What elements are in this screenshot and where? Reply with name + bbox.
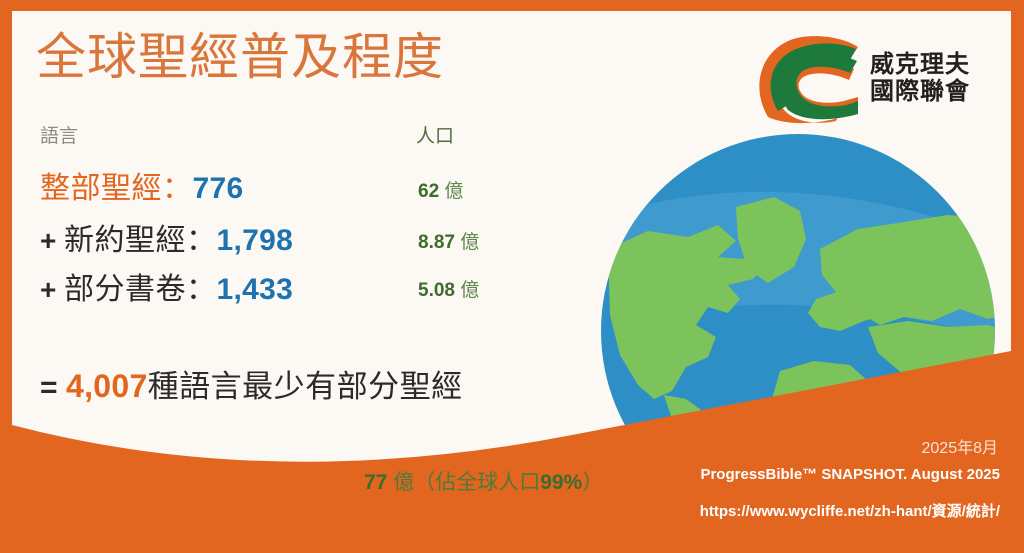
row-population: 8.87 億	[418, 227, 479, 254]
total-population-line: 77 億（佔全球人口99%）	[364, 466, 603, 496]
row-population-value: 5.08	[418, 280, 455, 301]
logo-line-2: 國際聯會	[870, 79, 970, 106]
row-label: 新約聖經：	[64, 224, 217, 257]
total-population-note-open: （佔全球人口	[414, 471, 540, 494]
row-population-unit: 億	[460, 280, 479, 301]
table-row: +新約聖經：1,798	[40, 215, 293, 259]
equals-sign: =	[40, 371, 66, 405]
footer-source: ProgressBible™ SNAPSHOT. August 2025	[700, 466, 1000, 483]
logo-line-1: 威克理夫	[870, 52, 970, 79]
row-count: 1,798	[217, 224, 294, 257]
table-row: +部分書卷：1,433	[40, 264, 293, 308]
footer-date: 2025年8月	[922, 434, 999, 458]
total-population-note-close: ）	[582, 471, 603, 494]
column-header-population: 人口	[416, 121, 454, 148]
row-population-unit: 億	[444, 181, 463, 202]
row-label: 整部聖經：	[40, 172, 193, 205]
total-languages-line: =4,007種語言最少有部分聖經	[40, 361, 463, 406]
wycliffe-logo: 威克理夫 國際聯會	[754, 33, 992, 133]
plus-sign: +	[40, 225, 64, 257]
total-population-value: 77	[364, 471, 387, 494]
row-population-value: 62	[418, 181, 439, 202]
column-header-language: 語言	[40, 121, 78, 148]
total-text: 種語言最少有部分聖經	[148, 369, 463, 404]
globe-illustration	[568, 99, 1011, 529]
row-population: 62 億	[418, 176, 463, 203]
table-row: 整部聖經：776	[40, 163, 243, 207]
total-count: 4,007	[66, 368, 148, 404]
wycliffe-arcs-icon	[754, 33, 862, 125]
content-panel: 全球聖經普及程度 語言 人口 整部聖經：776 62 億 +新約聖經：1,798…	[12, 11, 1011, 543]
total-population-unit: 億	[393, 471, 414, 494]
infographic-poster: 全球聖經普及程度 語言 人口 整部聖經：776 62 億 +新約聖經：1,798…	[0, 0, 1024, 553]
row-label: 部分書卷：	[64, 273, 217, 306]
row-population-unit: 億	[460, 232, 479, 253]
footer-url[interactable]: https://www.wycliffe.net/zh-hant/資源/統計/	[700, 500, 1000, 521]
total-population-percent: 99%	[540, 471, 582, 494]
row-count: 1,433	[217, 273, 294, 306]
row-population: 5.08 億	[418, 275, 479, 302]
logo-wordmark: 威克理夫 國際聯會	[870, 52, 970, 106]
row-count: 776	[193, 172, 244, 205]
row-population-value: 8.87	[418, 232, 455, 253]
plus-sign: +	[40, 274, 64, 306]
page-title: 全球聖經普及程度	[36, 32, 444, 82]
